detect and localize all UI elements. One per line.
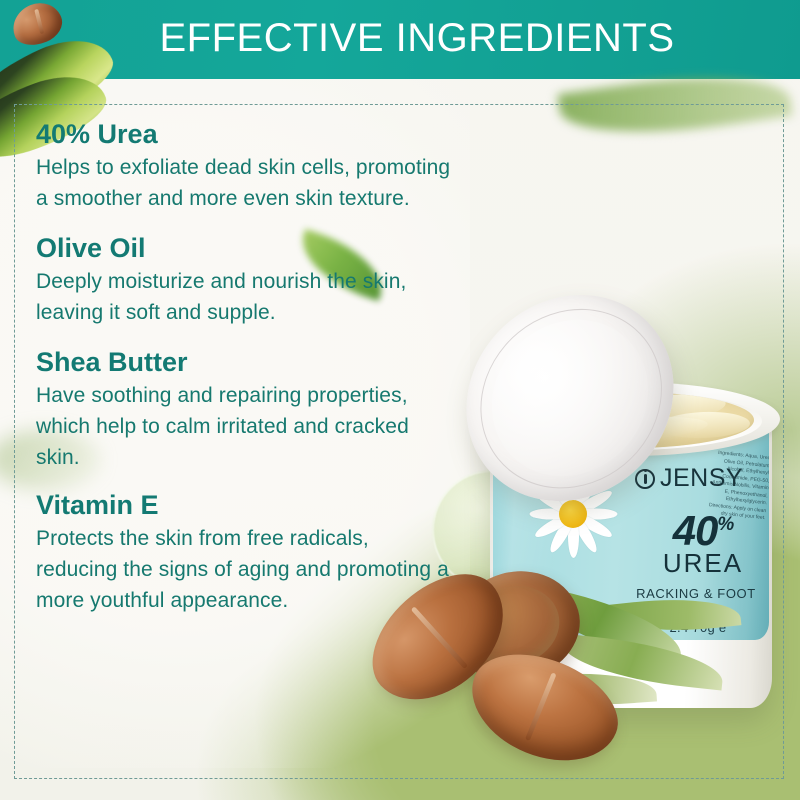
ingredient-title: 40% Urea [36, 116, 451, 152]
ingredient-title: Shea Butter [36, 344, 451, 380]
page-title: EFFECTIVE INGREDIENTS [0, 11, 800, 66]
ingredient-item-olive-oil: Olive Oil Deeply moisturize and nourish … [36, 230, 451, 328]
ingredient-description: Protects the skin from free radicals, re… [36, 523, 451, 616]
infographic-root: EFFECTIVE INGREDIENTS [0, 0, 800, 800]
circle-j-logo-icon [635, 469, 655, 489]
ingredient-list: 40% Urea Helps to exfoliate dead skin ce… [36, 116, 451, 629]
ingredient-description: Have soothing and repairing properties, … [36, 380, 451, 473]
ingredient-item-urea: 40% Urea Helps to exfoliate dead skin ce… [36, 116, 451, 214]
ingredient-item-shea-butter: Shea Butter Have soothing and repairing … [36, 344, 451, 473]
ingredient-description: Deeply moisturize and nourish the skin, … [36, 266, 451, 328]
ingredient-title: Vitamin E [36, 487, 451, 523]
ingredient-title: Olive Oil [36, 230, 451, 266]
ingredient-description: Helps to exfoliate dead skin cells, prom… [36, 152, 451, 214]
header-banner: EFFECTIVE INGREDIENTS [0, 0, 800, 79]
ingredient-item-vitamin-e: Vitamin E Protects the skin from free ra… [36, 487, 451, 616]
